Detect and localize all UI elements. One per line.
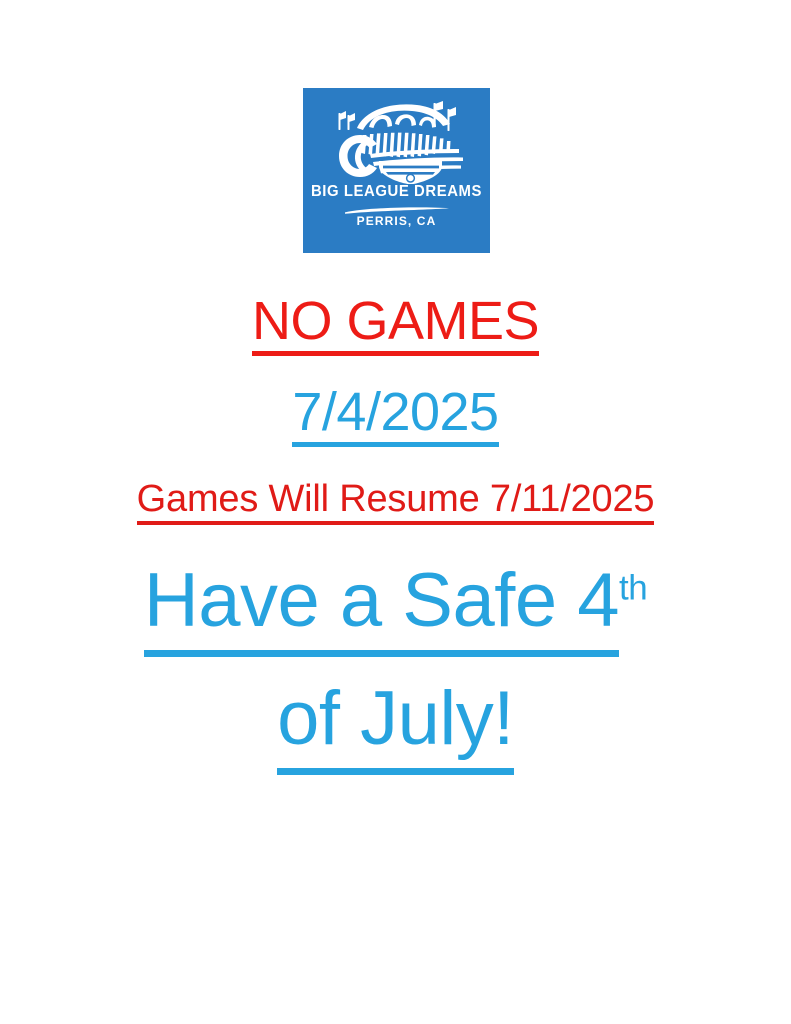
logo-divider-swoosh — [345, 206, 449, 214]
holiday-greeting-line-1: Have a Safe 4th — [0, 558, 791, 644]
logo-city-label: PERRIS, CA — [303, 214, 490, 228]
ordinal-suffix-superscript: th — [619, 569, 647, 608]
resume-notice-line: Games Will Resume 7/11/2025 — [0, 478, 791, 520]
holiday-greeting-line-2: of July! — [0, 676, 791, 762]
stadium-with-baseball-icon — [313, 94, 481, 184]
resume-notice-text: Games Will Resume 7/11/2025 — [137, 478, 655, 520]
flyer-page: BIG LEAGUE DREAMS PERRIS, CA NO GAMES 7/… — [0, 0, 791, 1024]
logo-tile: BIG LEAGUE DREAMS PERRIS, CA — [303, 88, 490, 253]
holiday-greeting-text-1: Have a Safe 4 — [144, 558, 619, 644]
no-games-headline: NO GAMES — [0, 292, 791, 350]
no-games-text: NO GAMES — [252, 292, 539, 350]
closure-date-line: 7/4/2025 — [0, 383, 791, 441]
holiday-greeting-text-2: of July! — [277, 676, 514, 762]
closure-date-text: 7/4/2025 — [292, 383, 498, 441]
logo-brand-name: BIG LEAGUE DREAMS — [307, 183, 487, 201]
big-league-dreams-logo: BIG LEAGUE DREAMS PERRIS, CA — [303, 88, 490, 253]
